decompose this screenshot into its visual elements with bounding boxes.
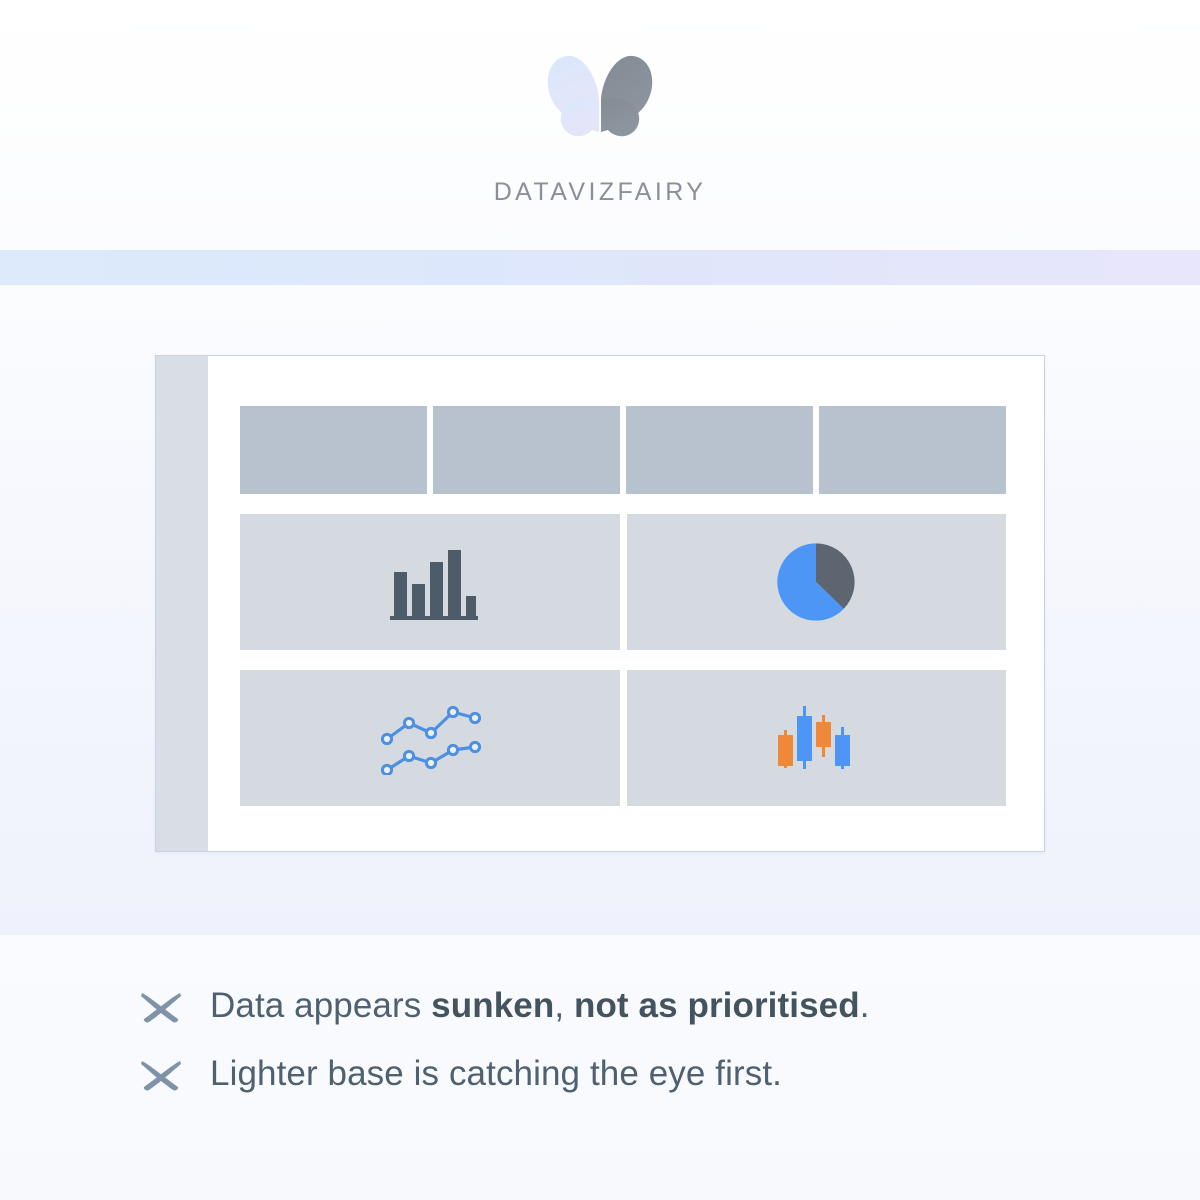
bar-chart-icon <box>382 534 478 630</box>
note-1-part-2: , <box>554 986 574 1025</box>
kpi-card-2 <box>433 406 620 494</box>
kpi-card-3 <box>626 406 813 494</box>
kpi-card-4 <box>819 406 1006 494</box>
pie-chart-panel <box>627 514 1007 650</box>
note-1-part-3: not as prioritised <box>574 986 860 1025</box>
accent-gradient-band <box>0 250 1200 285</box>
cross-mark-icon <box>138 983 184 1029</box>
line-chart-icon <box>378 701 482 775</box>
bar-chart-panel <box>240 514 620 650</box>
cross-mark-icon <box>138 1051 184 1097</box>
note-1-part-4: . <box>860 986 870 1025</box>
chart-row-lower <box>240 670 1006 806</box>
pie-chart-icon <box>774 540 858 624</box>
dashboard-mockup <box>155 355 1045 852</box>
brand-header: DATAVIZFAIRY <box>0 0 1200 250</box>
mockup-section <box>0 285 1200 935</box>
page-root: DATAVIZFAIRY <box>0 0 1200 1200</box>
candlestick-chart-icon <box>776 701 856 775</box>
note-item-1: Data appears sunken, not as prioritised. <box>138 983 1200 1029</box>
kpi-card-row <box>240 406 1006 494</box>
brand-name: DATAVIZFAIRY <box>494 178 707 207</box>
mockup-sidebar <box>156 356 208 851</box>
note-1-part-1: sunken <box>431 986 554 1025</box>
note-text-1: Data appears sunken, not as prioritised. <box>210 986 870 1026</box>
mockup-content <box>208 356 1044 851</box>
chart-row-upper <box>240 514 1006 650</box>
note-1-part-0: Data appears <box>210 986 431 1025</box>
kpi-card-1 <box>240 406 427 494</box>
notes-section: Data appears sunken, not as prioritised.… <box>0 935 1200 1200</box>
candlestick-chart-panel <box>627 670 1007 806</box>
butterfly-icon <box>525 46 675 146</box>
note-item-2: Lighter base is catching the eye first. <box>138 1051 1200 1097</box>
note-text-2: Lighter base is catching the eye first. <box>210 1054 782 1094</box>
line-chart-panel <box>240 670 620 806</box>
